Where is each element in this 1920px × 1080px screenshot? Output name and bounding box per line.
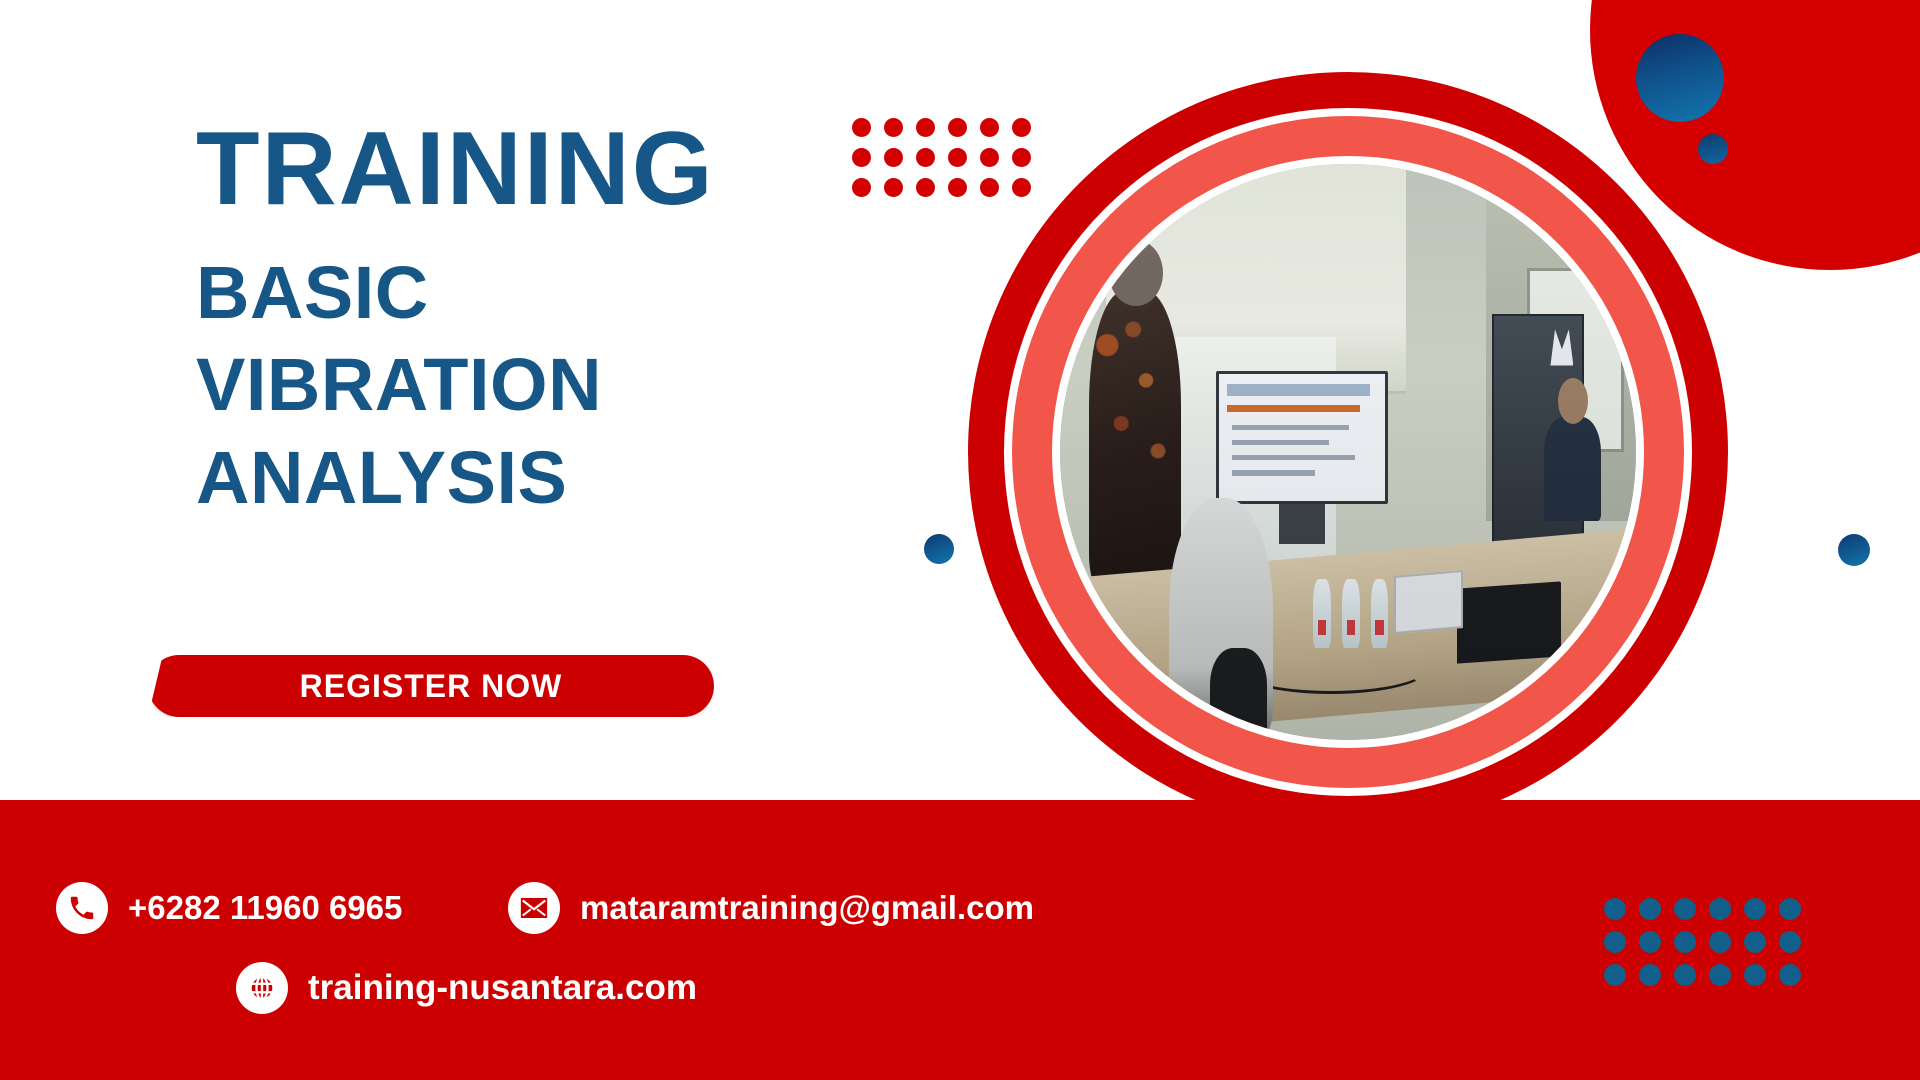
contact-email-value: mataramtraining@gmail.com <box>580 889 1034 927</box>
contact-email[interactable]: mataramtraining@gmail.com <box>508 882 1034 934</box>
red-dot-grid-decoration <box>852 118 1034 200</box>
blue-dot-grid-decoration <box>1604 898 1802 987</box>
page-subtitle: BASIC VIBRATION ANALYSIS <box>196 247 756 525</box>
blue-accent-dot-left <box>924 534 954 564</box>
contact-website[interactable]: training-nusantara.com <box>236 962 697 1014</box>
headline-block: TRAINING BASIC VIBRATION ANALYSIS <box>196 120 756 524</box>
photo-medallion <box>968 72 1728 832</box>
subtitle-line-3: ANALYSIS <box>196 432 756 525</box>
blue-accent-dot-right <box>1838 534 1870 566</box>
globe-icon <box>236 962 288 1014</box>
phone-icon <box>56 882 108 934</box>
envelope-icon <box>508 882 560 934</box>
training-photo <box>1060 164 1636 740</box>
page-title: TRAINING <box>196 120 756 219</box>
contact-phone[interactable]: +6282 11960 6965 <box>56 882 402 934</box>
contact-website-value: training-nusantara.com <box>308 968 697 1008</box>
subtitle-line-2: VIBRATION <box>196 339 756 432</box>
register-now-button[interactable]: REGISTER NOW <box>148 655 714 717</box>
subtitle-line-1: BASIC <box>196 247 756 340</box>
contact-phone-value: +6282 11960 6965 <box>128 889 402 927</box>
